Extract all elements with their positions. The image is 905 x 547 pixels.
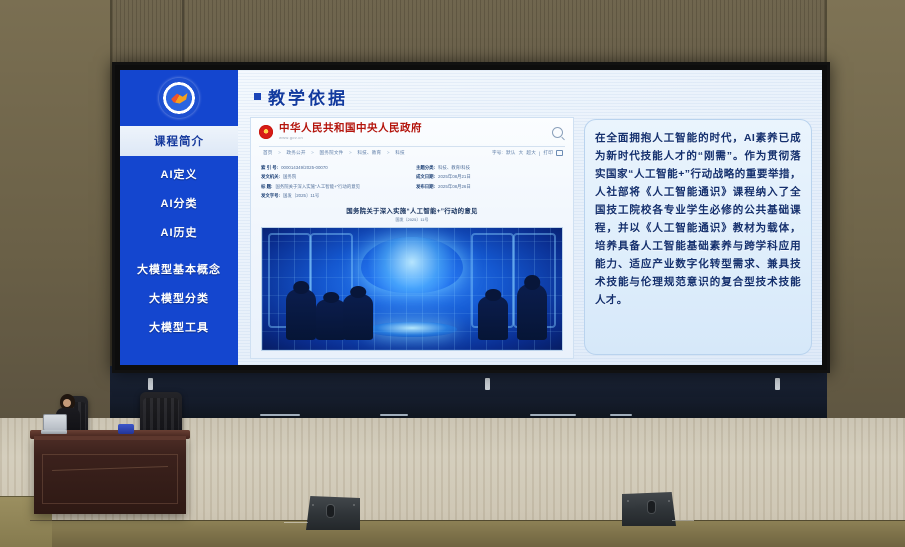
auditorium-scene: 课程简介 AI定义 AI分类 AI历史 大模型基本概念 大模型分类 大模型工具 xyxy=(0,0,905,547)
stage-front-edge xyxy=(0,520,905,547)
metadata-key: 发文字号: xyxy=(261,191,280,200)
hologram-base xyxy=(367,322,457,337)
fontsize-default[interactable]: 默认 xyxy=(506,150,516,156)
sidebar-nav: AI定义 AI分类 AI历史 大模型基本概念 大模型分类 大模型工具 xyxy=(120,156,238,365)
stage-wedge-monitor-left xyxy=(306,496,360,530)
gov-site-url: www.gov.cn xyxy=(279,135,422,140)
gov-document-card: 中华人民共和国中央人民政府 www.gov.cn 首页 > 政 xyxy=(250,117,574,359)
band-glow xyxy=(530,414,576,416)
band-marker xyxy=(148,378,153,390)
printer-icon[interactable] xyxy=(556,150,563,156)
metadata-row: 发布日期: 2025年08月26日 xyxy=(416,182,563,191)
metadata-row: 发文机关: 国务院 xyxy=(261,172,408,181)
slide-sidebar: 课程简介 AI定义 AI分类 AI历史 大模型基本概念 大模型分类 大模型工具 xyxy=(120,70,238,365)
sidebar-item-ai-classification[interactable]: AI分类 xyxy=(120,191,238,219)
gov-site-header: 中华人民共和国中央人民政府 www.gov.cn xyxy=(251,118,573,144)
hologram-brain-icon xyxy=(361,236,463,292)
fontsize-controls: 字号: 默认 大 超大 | 打印 xyxy=(492,150,563,156)
metadata-value: 2025年08月26日 xyxy=(438,182,471,191)
metadata-key: 成文日期: xyxy=(416,172,435,181)
monitor-screw xyxy=(668,500,670,502)
sidebar-item-llm-basics[interactable]: 大模型基本概念 xyxy=(120,257,238,285)
wall-panel-left xyxy=(0,0,112,420)
breadcrumb-item-category[interactable]: 科技、教育 xyxy=(357,150,381,155)
breadcrumb-separator: > xyxy=(311,150,314,155)
breadcrumb-trail: 首页 > 政务公开 > 国务院文件 > 科技、教育 > 科技 xyxy=(261,150,407,156)
breadcrumb: 首页 > 政务公开 > 国务院文件 > 科技、教育 > 科技 xyxy=(251,147,573,159)
stage-skirt-band xyxy=(110,366,827,418)
sidebar-header: 课程简介 xyxy=(120,126,238,156)
metadata-key: 标 题: xyxy=(261,182,272,191)
search-icon[interactable] xyxy=(552,127,563,138)
monitor-screw xyxy=(312,504,314,506)
band-glow xyxy=(260,414,300,416)
metadata-row: 发文字号: 国发〔2025〕11号 xyxy=(261,191,408,200)
metadata-value: 国务院 xyxy=(283,172,296,181)
illustration-container xyxy=(251,223,573,358)
band-glow xyxy=(380,414,408,416)
metadata-row: 标 题: 国务院关于深入实施“人工智能+”行动的意见 xyxy=(261,182,408,191)
breadcrumb-item-docs[interactable]: 国务院文件 xyxy=(320,150,344,155)
slide-content: 中华人民共和国中央人民政府 www.gov.cn 首页 > 政 xyxy=(250,117,814,359)
metadata-row: 主题分类: 科技、教育\科技 xyxy=(416,163,563,172)
breadcrumb-separator: > xyxy=(278,150,281,155)
monitor-handle xyxy=(327,505,334,517)
print-label[interactable]: 打印 xyxy=(543,150,553,156)
national-emblem-icon xyxy=(259,125,273,139)
speaker-cable xyxy=(284,522,308,523)
speaker-cable xyxy=(672,520,694,521)
band-marker xyxy=(485,378,490,390)
breadcrumb-item-home[interactable]: 首页 xyxy=(263,150,273,155)
breadcrumb-item-affairs[interactable]: 政务公开 xyxy=(286,150,305,155)
sidebar-item-ai-history[interactable]: AI历史 xyxy=(120,220,238,248)
sidebar-item-llm-tools[interactable]: 大模型工具 xyxy=(120,315,238,343)
metadata-value: 国务院关于深入实施“人工智能+”行动的意见 xyxy=(275,182,360,191)
monitor-handle xyxy=(648,501,655,513)
monitor-screw xyxy=(627,500,629,502)
laptop-screen xyxy=(43,414,67,431)
blue-item-on-desk xyxy=(118,424,134,434)
illustration-person xyxy=(478,296,508,340)
metadata-value: 科技、教育\科技 xyxy=(438,163,470,172)
led-screen-bezel: 课程简介 AI定义 AI分类 AI历史 大模型基本概念 大模型分类 大模型工具 xyxy=(112,62,830,373)
metadata-column-left: 索 引 号: 000014349/2025-00070 发文机关: 国务院 标 … xyxy=(261,163,408,201)
metadata-value: 000014349/2025-00070 xyxy=(281,163,328,172)
metadata-value: 国发〔2025〕11号 xyxy=(283,191,319,200)
fontsize-large[interactable]: 大 xyxy=(519,150,524,156)
summary-text-panel: 在全面拥抱人工智能的时代，AI素养已成为新时代技能人才的“刚需”。作为贯彻落实国… xyxy=(584,119,812,355)
podium-desk xyxy=(34,436,186,514)
document-title: 国务院关于深入实施“人工智能+”行动的意见 xyxy=(251,206,573,215)
fontsize-label: 字号: xyxy=(492,150,503,156)
band-marker xyxy=(775,378,780,390)
led-screen[interactable]: 课程简介 AI定义 AI分类 AI历史 大模型基本概念 大模型分类 大模型工具 xyxy=(120,70,822,365)
sidebar-item-llm-classification[interactable]: 大模型分类 xyxy=(120,286,238,314)
metadata-key: 发文机关: xyxy=(261,172,280,181)
control-divider: | xyxy=(539,151,540,156)
gov-site-name: 中华人民共和国中央人民政府 xyxy=(279,123,422,134)
ai-hologram-illustration xyxy=(261,227,563,351)
logo-container xyxy=(120,70,238,126)
breadcrumb-separator: > xyxy=(387,150,390,155)
illustration-person xyxy=(343,294,373,340)
metadata-key: 发布日期: xyxy=(416,182,435,191)
metadata-row: 索 引 号: 000014349/2025-00070 xyxy=(261,163,408,172)
fontsize-xlarge[interactable]: 超大 xyxy=(526,150,536,156)
metadata-value: 2025年08月21日 xyxy=(438,172,471,181)
monitor-screw xyxy=(353,504,355,506)
illustration-person xyxy=(517,284,547,340)
school-emblem-icon xyxy=(159,78,199,118)
metadata-key: 索 引 号: xyxy=(261,163,278,172)
illustration-person xyxy=(316,299,346,341)
slide-main: 教学依据 中华人民共和国中央人民政府 www.gov.cn xyxy=(238,70,822,365)
metadata-column-right: 主题分类: 科技、教育\科技 成文日期: 2025年08月21日 发布日期: xyxy=(416,163,563,201)
gov-site-titleblock: 中华人民共和国中央人民政府 www.gov.cn xyxy=(279,123,422,140)
breadcrumb-item-sub[interactable]: 科技 xyxy=(395,150,405,155)
presentation-slide: 课程简介 AI定义 AI分类 AI历史 大模型基本概念 大模型分类 大模型工具 xyxy=(120,70,822,365)
sidebar-item-ai-definition[interactable]: AI定义 xyxy=(120,162,238,190)
document-metadata: 索 引 号: 000014349/2025-00070 发文机关: 国务院 标 … xyxy=(251,159,573,203)
presenter-face xyxy=(63,399,71,407)
page-title-text: 教学依据 xyxy=(268,84,348,109)
laptop-base xyxy=(41,430,67,434)
metadata-row: 成文日期: 2025年08月21日 xyxy=(416,172,563,181)
breadcrumb-separator: > xyxy=(349,150,352,155)
laptop[interactable] xyxy=(41,414,67,434)
metadata-key: 主题分类: xyxy=(416,163,435,172)
illustration-person xyxy=(286,289,316,340)
band-glow xyxy=(610,414,632,416)
floor-cable xyxy=(30,520,90,521)
wall-panel-right xyxy=(825,0,905,420)
desk-front-panel xyxy=(42,454,178,504)
page-title: 教学依据 xyxy=(254,84,814,109)
square-bullet-icon xyxy=(254,93,261,100)
right-column: 在全面拥抱人工智能的时代，AI素养已成为新时代技能人才的“刚需”。作为贯彻落实国… xyxy=(584,117,814,359)
stage-wedge-monitor-right xyxy=(622,492,676,526)
sidebar-filler xyxy=(120,344,238,366)
